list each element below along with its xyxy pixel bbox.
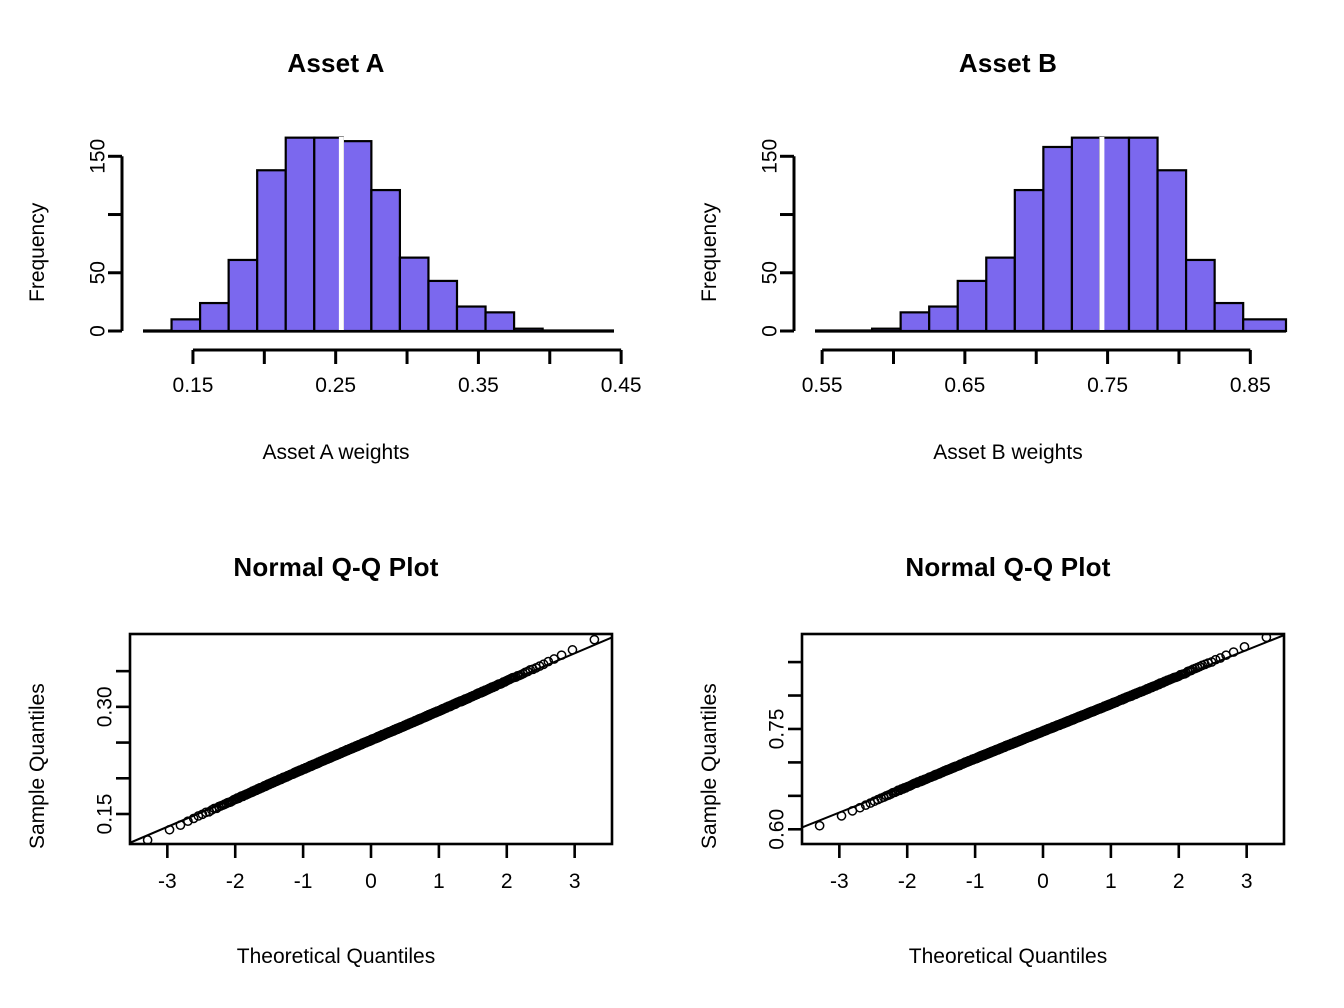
qq-reference-line-group [802, 635, 1284, 827]
histogram-bar [314, 138, 343, 331]
y-axis-group: 0.150.30 [94, 671, 130, 834]
x-axis-tick-label: 0 [365, 870, 377, 893]
histogram-bar [1243, 319, 1286, 331]
x-axis-tick-label: -2 [898, 870, 917, 893]
x-axis-tick-label: 2 [1173, 870, 1185, 893]
histogram-bar [343, 141, 372, 331]
y-axis-group: 050150 [759, 139, 794, 337]
x-axis-tick-label: -1 [294, 870, 313, 893]
histogram-bar [486, 312, 515, 331]
x-axis-tick-label: 0.55 [802, 374, 843, 397]
qqplot-a-plot: 0.150.30-3-2-10123 [0, 504, 672, 1008]
x-axis-tick-label: -3 [158, 870, 177, 893]
histogram-bar [1158, 170, 1187, 331]
histogram-bar [1015, 190, 1044, 331]
x-axis-tick-label: -3 [830, 870, 849, 893]
y-axis-tick-label: 50 [87, 261, 110, 284]
histogram-bar [1043, 147, 1072, 331]
histogram-bar [1215, 303, 1244, 331]
x-axis-group: 0.550.650.750.85 [802, 350, 1271, 397]
qq-reference-line-group [130, 637, 612, 842]
x-axis-tick-label: -2 [226, 870, 245, 893]
qqplot-b-plot: 0.600.75-3-2-10123 [672, 504, 1344, 1008]
x-axis-tick-label: 0 [1037, 870, 1049, 893]
panel-histogram-asset-a: Asset A Asset A weights Frequency 050150… [0, 0, 672, 504]
histogram-bar [172, 319, 201, 331]
histogram-bar [371, 190, 400, 331]
x-axis-group: 0.150.250.350.45 [173, 350, 642, 397]
qq-reference-line [802, 635, 1284, 827]
histogram-bar [428, 281, 457, 331]
histogram-bar [986, 258, 1015, 331]
histogram-a-plot: 0501500.150.250.350.45 [0, 0, 672, 504]
x-axis-tick-label: 3 [569, 870, 581, 893]
qq-data-point [816, 822, 824, 830]
histogram-bar [1072, 138, 1101, 331]
x-axis-tick-label: 0.45 [601, 374, 642, 397]
histogram-bar [229, 260, 258, 331]
x-axis-tick-label: 0.35 [458, 374, 499, 397]
x-axis-group: -3-2-10123 [158, 844, 581, 893]
x-axis-tick-label: 0.15 [173, 374, 214, 397]
x-axis-tick-label: 0.65 [944, 374, 985, 397]
histogram-bar [1186, 260, 1215, 331]
y-axis-tick-label: 0.15 [94, 794, 117, 835]
y-axis-tick-label: 0.60 [766, 809, 789, 850]
x-axis-tick-label: 3 [1241, 870, 1253, 893]
histogram-b-plot: 0501500.550.650.750.85 [672, 0, 1344, 504]
x-axis-group: -3-2-10123 [830, 844, 1253, 893]
y-axis-tick-label: 0 [87, 325, 110, 337]
y-axis-tick-label: 0.30 [94, 686, 117, 727]
histogram-bar [257, 170, 286, 331]
y-axis-tick-label: 50 [759, 261, 782, 284]
x-axis-tick-label: 1 [1105, 870, 1117, 893]
x-axis-tick-label: -1 [966, 870, 985, 893]
histogram-bar [872, 329, 901, 331]
histogram-bar [901, 312, 930, 331]
x-axis-tick-label: 0.75 [1087, 374, 1128, 397]
qq-data-point [590, 636, 598, 644]
panel-qqplot-asset-a: Normal Q-Q Plot Theoretical Quantiles Sa… [0, 504, 672, 1008]
histogram-bar [514, 329, 543, 331]
histogram-bars-group [143, 137, 614, 331]
y-axis-tick-label: 0 [759, 325, 782, 337]
histogram-bar [1100, 138, 1129, 331]
x-axis-tick-label: 1 [433, 870, 445, 893]
y-axis-tick-label: 0.75 [766, 709, 789, 750]
y-axis-group: 0.600.75 [766, 662, 802, 850]
histogram-bar [457, 307, 486, 331]
histogram-bars-group [815, 137, 1286, 331]
y-axis-tick-label: 150 [759, 139, 782, 174]
qq-reference-line [130, 637, 612, 842]
histogram-bar [400, 258, 429, 331]
histogram-bar [958, 281, 987, 331]
x-axis-tick-label: 0.85 [1230, 374, 1271, 397]
histogram-bar [286, 138, 315, 331]
y-axis-group: 050150 [87, 139, 122, 337]
panel-histogram-asset-b: Asset B Asset B weights Frequency 050150… [672, 0, 1344, 504]
panel-qqplot-asset-b: Normal Q-Q Plot Theoretical Quantiles Sa… [672, 504, 1344, 1008]
figure-canvas: Asset A Asset A weights Frequency 050150… [0, 0, 1344, 1008]
histogram-bar [1129, 138, 1158, 331]
x-axis-tick-label: 2 [501, 870, 513, 893]
histogram-bar [929, 307, 958, 331]
x-axis-tick-label: 0.25 [315, 374, 356, 397]
histogram-bar [200, 303, 229, 331]
y-axis-tick-label: 150 [87, 139, 110, 174]
